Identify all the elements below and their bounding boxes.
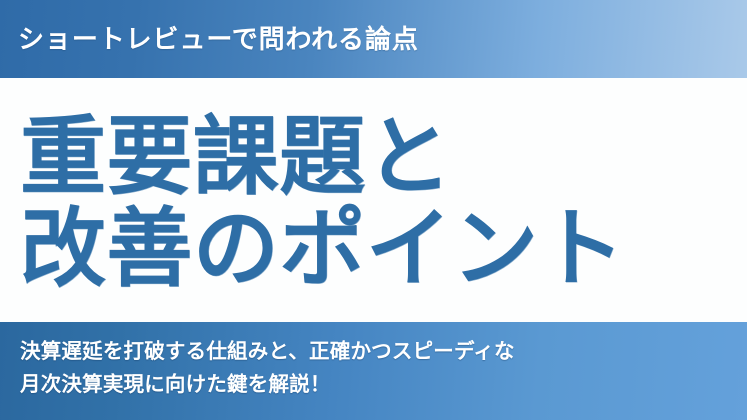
headline-line-2: 改善のポイント [20, 201, 747, 297]
headline-area: 重要課題と 改善のポイント [0, 78, 747, 322]
subtitle-line-1: 決算遅延を打破する仕組みと、正確かつスピーディな [20, 335, 729, 368]
subtitle-line-2: 月次決算実現に向けた鍵を解説！ [20, 368, 729, 401]
title-slide: ショートレビューで問われる論点 重要課題と 改善のポイント 決算遅延を打破する仕… [0, 0, 747, 420]
eyebrow-label: ショートレビューで問われる論点 [18, 26, 419, 52]
subtitle-banner: 決算遅延を打破する仕組みと、正確かつスピーディな 月次決算実現に向けた鍵を解説！ [0, 322, 747, 420]
headline-line-1: 重要課題と [20, 109, 747, 205]
eyebrow-banner: ショートレビューで問われる論点 [0, 0, 747, 78]
